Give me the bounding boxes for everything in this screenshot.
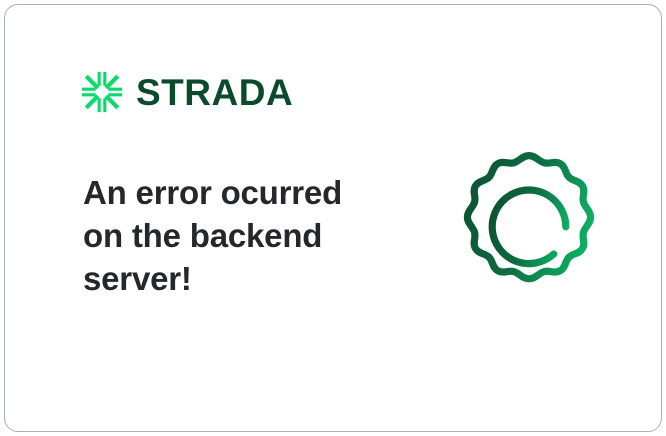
brand-lockup: STRADA: [81, 71, 293, 113]
error-headline: An error ocurred on the backend server!: [83, 171, 383, 300]
screen: STRADA An error ocurred on the backend s…: [0, 0, 666, 436]
strada-asterisk-star-icon: [81, 71, 123, 113]
gear-cog-icon: [449, 146, 609, 306]
error-card: STRADA An error ocurred on the backend s…: [4, 4, 662, 432]
brand-wordmark: STRADA: [136, 74, 293, 111]
